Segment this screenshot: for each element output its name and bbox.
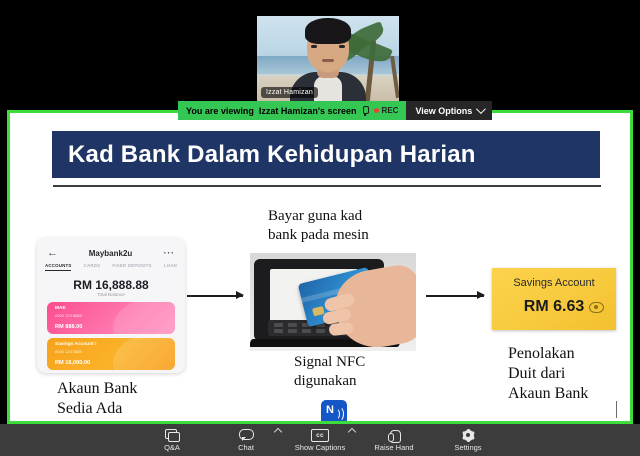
- toolbar-settings-button[interactable]: Settings: [431, 424, 505, 456]
- chat-icon: [239, 428, 253, 442]
- nfc-wave-outer: [333, 406, 344, 422]
- savings-label: Savings Account: [492, 277, 616, 289]
- video-strip: Izzat Hamizan: [0, 0, 640, 104]
- savings-account-result-box: Savings Account RM 6.63: [492, 268, 616, 330]
- chat-caret-icon[interactable]: [274, 428, 282, 436]
- title-divider: [53, 185, 601, 187]
- slide-title-band: Kad Bank Dalam Kehidupan Harian: [52, 131, 600, 178]
- view-options-button[interactable]: View Options: [406, 101, 492, 120]
- account-card-savings[interactable]: Savings Account i 8000 123 0888 RM 16,00…: [47, 338, 175, 370]
- meeting-toolbar: Q&A Chat cc Show Captions Raise Hand Set…: [0, 424, 640, 456]
- toolbar-qa-button[interactable]: Q&A: [135, 424, 209, 456]
- toolbar-raise-hand-label: Raise Hand: [374, 443, 413, 452]
- tab-loan[interactable]: LOAN: [164, 263, 177, 271]
- toolbar-captions-label: Show Captions: [295, 443, 345, 452]
- flow-arrow-1: [187, 295, 243, 297]
- tab-fixed-deposits[interactable]: FIXED DEPOSITS: [112, 263, 151, 271]
- chevron-down-icon: [476, 104, 486, 114]
- participant-name-label: Izzat Hamizan: [261, 87, 318, 98]
- caption-existing-account: Akaun Bank Sedia Ada: [57, 379, 137, 419]
- account-amount: RM 16,000.00: [55, 360, 90, 366]
- screen-share-icon: [362, 106, 369, 116]
- toolbar-qa-label: Q&A: [164, 443, 180, 452]
- closed-caption-icon: cc: [311, 428, 329, 442]
- total-balance-label: Total Balance: [37, 292, 185, 297]
- eye-icon[interactable]: [589, 302, 604, 313]
- view-options-label: View Options: [415, 106, 472, 116]
- flow-arrow-2: [426, 295, 484, 297]
- viewing-label: You are viewing: [186, 106, 254, 116]
- caption-money-deducted: Penolakan Duit dari Akaun Bank: [508, 344, 588, 404]
- record-dot-icon: [374, 108, 379, 113]
- presentation-slide: Kad Bank Dalam Kehidupan Harian ← Mayban…: [10, 113, 630, 421]
- tab-cards[interactable]: CARDS: [84, 263, 101, 271]
- toolbar-captions-button[interactable]: cc Show Captions: [283, 424, 357, 456]
- nfc-icon: N NFC: [321, 400, 347, 424]
- app-header: ← Maybank2u ⋯: [37, 245, 185, 261]
- back-arrow-icon[interactable]: ←: [47, 248, 58, 259]
- account-number: 8000 123 0888: [55, 349, 82, 354]
- gear-icon: [462, 428, 475, 442]
- toolbar-settings-label: Settings: [454, 443, 481, 452]
- qa-icon: [165, 428, 180, 442]
- tab-accounts[interactable]: ACCOUNTS: [45, 263, 71, 271]
- sharing-banner: You are viewing Izzat Hamizan's screen R…: [178, 101, 406, 120]
- participant-video-tile[interactable]: Izzat Hamizan: [257, 16, 399, 102]
- toolbar-chat-label: Chat: [238, 443, 254, 452]
- account-name: Savings Account i: [55, 342, 96, 347]
- slide-title: Kad Bank Dalam Kehidupan Harian: [52, 141, 476, 169]
- screen-share-status-bar: You are viewing Izzat Hamizan's screen R…: [178, 101, 492, 120]
- presenter-label: Izzat Hamizan's screen: [259, 106, 357, 116]
- caption-nfc-signal: Signal NFC digunakan: [294, 353, 365, 391]
- account-number: 0000 123 8888: [55, 313, 82, 318]
- toolbar-chat-button[interactable]: Chat: [209, 424, 283, 456]
- recording-indicator: REC: [374, 106, 399, 115]
- toolbar-raise-hand-button[interactable]: Raise Hand: [357, 424, 431, 456]
- captions-caret-icon[interactable]: [348, 428, 356, 436]
- account-card-mae[interactable]: MAE 0000 123 8888 RM 888.00: [47, 302, 175, 334]
- rec-label: REC: [382, 106, 399, 115]
- caption-pay-with-card: Bayar guna kad bank pada mesin: [268, 207, 369, 245]
- account-name: MAE: [55, 306, 66, 311]
- app-tab-bar: ACCOUNTS CARDS FIXED DEPOSITS LOAN: [37, 263, 185, 271]
- banking-app-phone-mockup: ← Maybank2u ⋯ ACCOUNTS CARDS FIXED DEPOS…: [37, 238, 185, 373]
- app-title: Maybank2u: [89, 249, 133, 258]
- account-amount: RM 888.00: [55, 324, 82, 330]
- text-cursor: [616, 401, 617, 418]
- shared-screen-region: Kad Bank Dalam Kehidupan Harian ← Mayban…: [7, 110, 633, 424]
- zoom-meeting-window: Izzat Hamizan You are viewing Izzat Hami…: [0, 0, 640, 456]
- raise-hand-icon: [388, 428, 401, 442]
- more-options-icon[interactable]: ⋯: [163, 248, 175, 259]
- total-balance-amount: RM 16,888.88: [37, 278, 185, 292]
- payment-terminal-photo: [250, 253, 416, 351]
